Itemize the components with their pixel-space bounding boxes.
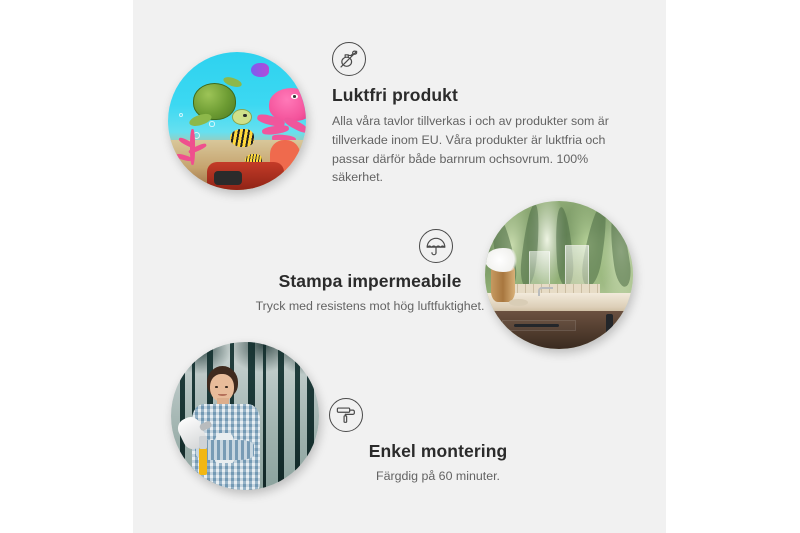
- feature-description: Tryck med resistens mot hög luftfuktighe…: [205, 297, 535, 316]
- feature-block-luktfri-produkt: Luktfri produkt Alla våra tavlor tillver…: [332, 42, 632, 187]
- umbrella-icon: [419, 229, 453, 263]
- no-perfume-icon: [332, 42, 366, 76]
- feature-title: Stampa impermeabile: [205, 271, 535, 293]
- striped-fish: [230, 129, 253, 147]
- feature-title: Enkel montering: [329, 441, 547, 463]
- feature-title: Luktfri produkt: [332, 85, 632, 107]
- turtle: [187, 80, 253, 127]
- feature-block-stampa-impermeabile: Stampa impermeabile Tryck med resistens …: [205, 229, 535, 316]
- woman: [189, 366, 263, 490]
- feature-block-enkel-montering: Enkel montering Färgdig på 60 minuter.: [329, 398, 629, 486]
- shipwreck: [207, 162, 284, 190]
- paint-roller-icon: [329, 398, 363, 432]
- feature-description: Alla våra tavlor tillverkas i och av pro…: [332, 112, 632, 187]
- feature-description: Färgdig på 60 minuter.: [329, 467, 547, 486]
- woman-with-roller-forest-photo: [171, 342, 319, 490]
- purple-fish: [251, 63, 269, 77]
- screenshot-canvas: Luktfri produkt Alla våra tavlor tillver…: [0, 0, 800, 533]
- paint-brush-prop: [199, 448, 206, 475]
- underwater-sea-life-photo: [168, 52, 306, 190]
- vanity-cabinet: [491, 311, 633, 349]
- feature-panel: Luktfri produkt Alla våra tavlor tillver…: [133, 0, 666, 533]
